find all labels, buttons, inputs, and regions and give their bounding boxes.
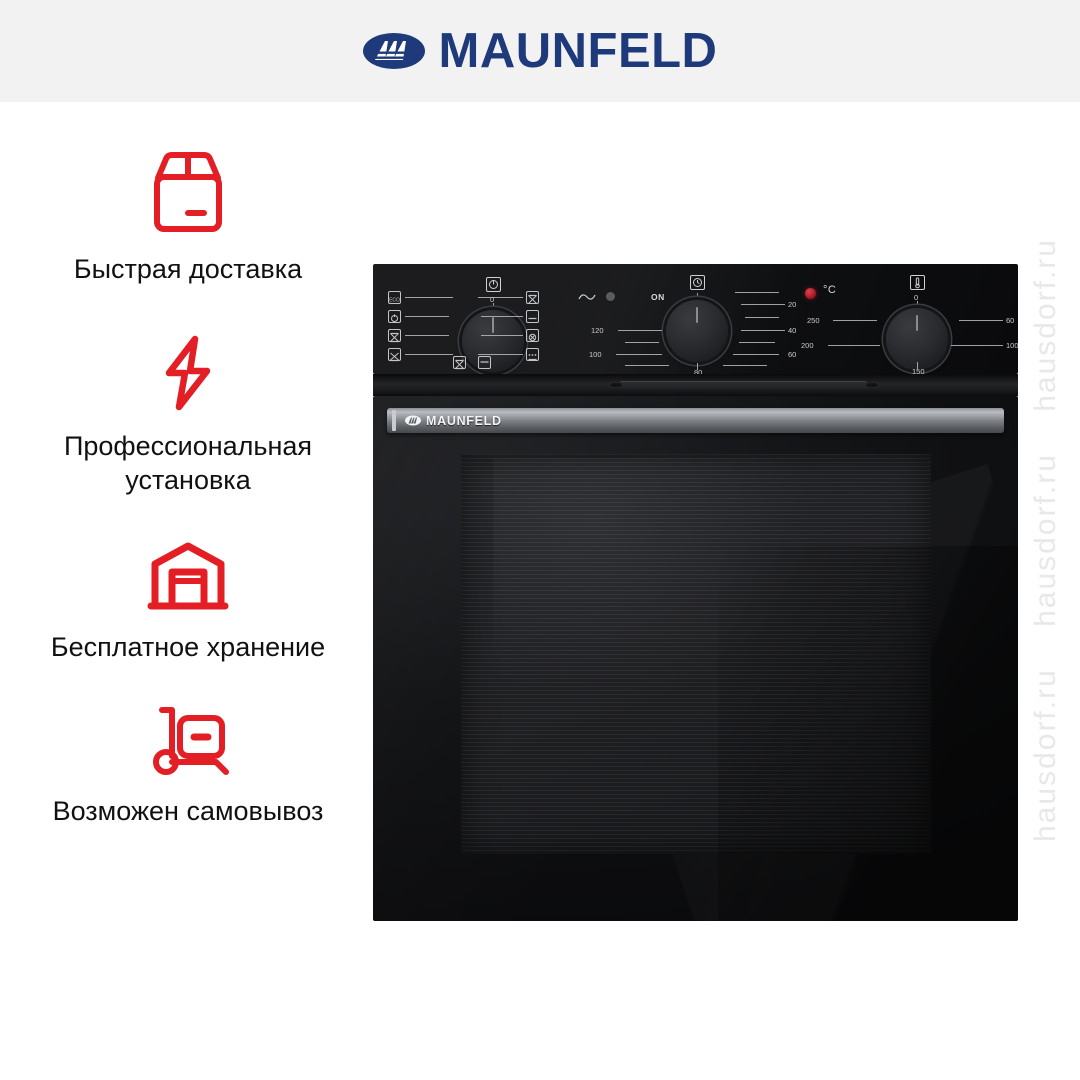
timer-clock-icon: [690, 275, 705, 290]
full-heat-fan-icon: [526, 329, 539, 342]
feature-item-storage: Бесплатное хранение: [8, 538, 368, 665]
maunfeld-ellipse-logo-icon: [363, 31, 425, 71]
oven-vent-slot: [618, 381, 868, 389]
heat-wave-icon: [578, 292, 596, 302]
feature-list: Быстрая доставка Профессиональная устано…: [8, 150, 368, 829]
feature-item-delivery: Быстрая доставка: [8, 150, 368, 287]
oven-door-glass: [461, 454, 931, 854]
handle-end-cap: [392, 410, 396, 431]
oven-power-icon: [486, 277, 501, 292]
function-tick-top: [493, 303, 494, 310]
oven-control-panel: 0 ECO: [373, 264, 1018, 374]
thermostat-scale-value: 200: [801, 341, 814, 350]
temperature-unit-label: °C: [823, 284, 836, 296]
knob-pointer: [916, 315, 918, 331]
lamp-icon: [478, 356, 491, 369]
status-dot-icon: [606, 292, 615, 301]
feature-label: Возможен самовывоз: [53, 794, 324, 829]
timer-scale-value: 40: [788, 326, 796, 335]
page-root: MAUNFELD Быстрая доставка Профессиональн…: [0, 0, 1080, 1080]
hand-truck-icon: [142, 704, 234, 778]
product-image-oven: 0 ECO: [373, 264, 1018, 921]
handle-brand-text: MAUNFELD: [426, 414, 502, 428]
oven-door[interactable]: MAUNFELD: [373, 396, 1018, 921]
grill-icon: [453, 356, 466, 369]
knob-pointer: [696, 307, 698, 323]
brand-name: MAUNFELD: [439, 27, 718, 76]
feature-label: Профессиональная установка: [23, 429, 353, 498]
timer-scale-value: 60: [788, 350, 796, 359]
thermostat-scale-value: 150: [912, 367, 925, 374]
warehouse-icon: [144, 538, 232, 614]
feature-label: Бесплатное хранение: [51, 630, 325, 665]
svg-text:ECO: ECO: [389, 298, 400, 304]
bottom-heat-fan-icon: [388, 329, 401, 342]
watermark-text: hausdorf.ru hausdorf.ru hausdorf.ru: [1029, 238, 1063, 842]
bottom-heat-only-icon: [526, 310, 539, 323]
thermostat-scale-value: 250: [807, 316, 820, 325]
defrost-fan-icon: [388, 310, 401, 323]
package-box-icon: [144, 150, 232, 236]
thermostat-knob[interactable]: [886, 308, 948, 370]
feature-label: Быстрая доставка: [74, 252, 302, 287]
timer-scale-value: 120: [591, 326, 604, 335]
header-bar: MAUNFELD: [0, 0, 1080, 102]
timer-scale-value: 20: [788, 300, 796, 309]
timer-knob[interactable]: [666, 300, 728, 362]
thermometer-icon: [910, 275, 925, 290]
feature-item-pickup: Возможен самовывоз: [8, 704, 368, 829]
grill-fan-icon: [526, 291, 539, 304]
maunfeld-ellipse-logo-icon: [405, 415, 421, 426]
eco-mode-icon: ECO: [388, 291, 401, 304]
timer-scale-value: 100: [589, 350, 602, 359]
vent-cap-left: [609, 382, 623, 388]
heating-indicator-led: [805, 288, 816, 299]
brand-logo: MAUNFELD: [0, 0, 1080, 102]
feature-item-installation: Профессиональная установка: [8, 333, 368, 498]
timer-on-label: ON: [651, 292, 665, 302]
knob-pointer: [492, 317, 494, 333]
vent-cap-right: [865, 382, 879, 388]
watermark: hausdorf.ru hausdorf.ru hausdorf.ru: [1014, 0, 1078, 1080]
top-heat-icon: [526, 348, 539, 361]
function-selector-knob[interactable]: [462, 310, 524, 372]
handle-brand-logo: MAUNFELD: [405, 410, 502, 431]
bottom-heat-icon: [388, 348, 401, 361]
lightning-bolt-icon: [153, 333, 223, 413]
